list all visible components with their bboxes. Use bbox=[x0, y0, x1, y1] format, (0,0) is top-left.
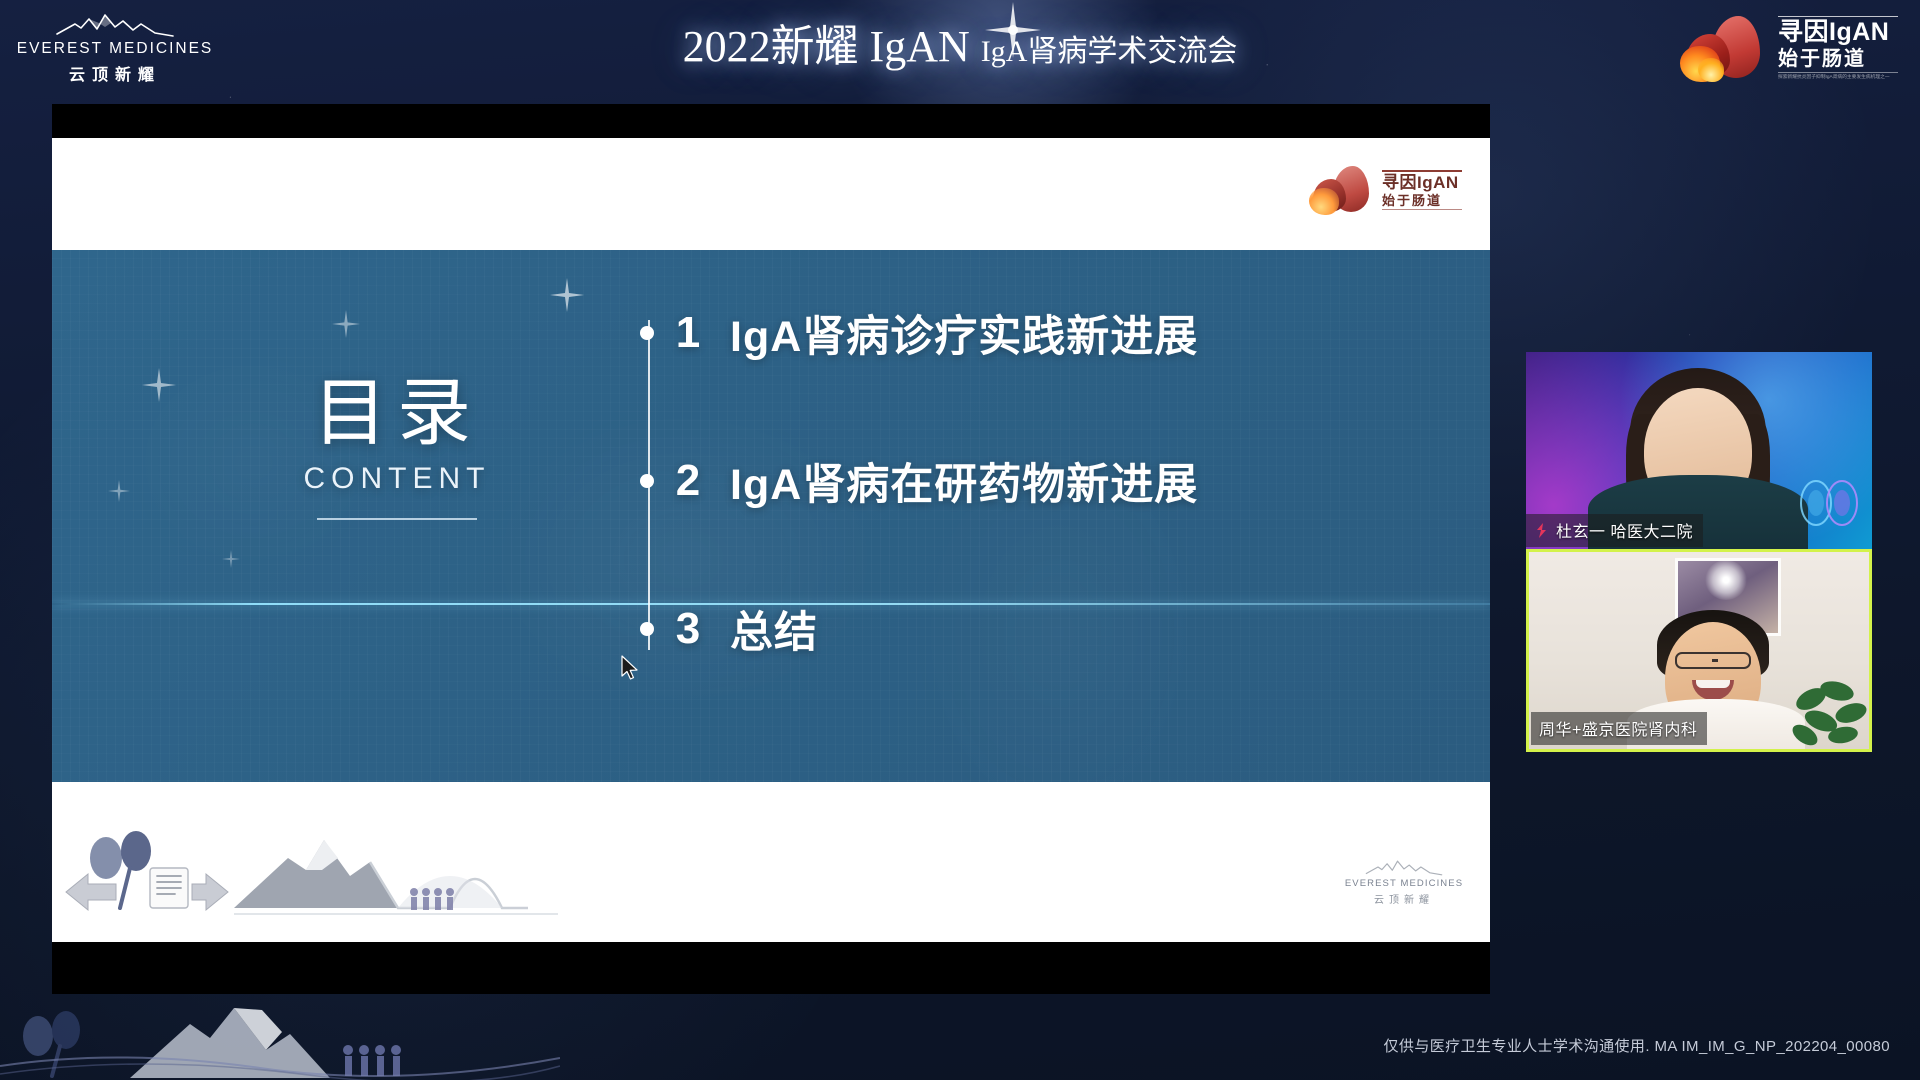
kidney-flame-icon bbox=[1307, 163, 1377, 217]
content-title-english: CONTENT bbox=[267, 462, 527, 496]
participant-1-name-badge: 杜玄一 哈医大二院 bbox=[1526, 514, 1703, 547]
slide-igan-line2: 始于肠道 bbox=[1382, 194, 1462, 207]
igan-logo-line1: 寻因IgAN bbox=[1778, 20, 1898, 45]
forward-arrow-icon bbox=[192, 874, 228, 910]
sparkle-icon bbox=[332, 310, 360, 338]
event-title-main: 2022新耀 IgAN bbox=[683, 22, 970, 71]
content-title-underline bbox=[317, 518, 477, 520]
light-glare bbox=[1705, 560, 1747, 600]
agenda-list: 1 IgA肾病诊疗实践新进展 2 IgA肾病在研药物新进展 3 总结 bbox=[646, 302, 1386, 660]
letterbox-bottom bbox=[52, 942, 1490, 994]
back-arrow-icon bbox=[66, 874, 116, 910]
slide-header: 寻因IgAN 始于肠道 bbox=[52, 138, 1490, 250]
agenda-bullet-icon bbox=[640, 474, 654, 488]
slide-content-area: 目录 CONTENT 1 IgA肾病诊疗实践新进展 2 IgA肾病在研药物新进展 bbox=[52, 250, 1490, 782]
kidney-flame-icon bbox=[1676, 12, 1772, 84]
igan-logo-line3: 探索新耀抗炎因子抑制IgA肾病的主要发生病机理之一 bbox=[1778, 75, 1892, 80]
screen-share-region[interactable]: 寻因IgAN 始于肠道 目录 bbox=[52, 104, 1490, 994]
agenda-number: 1 bbox=[646, 308, 730, 358]
avatar-teeth bbox=[1696, 680, 1730, 688]
content-title-block: 目录 CONTENT bbox=[267, 372, 527, 520]
houseplant-icon bbox=[1781, 669, 1867, 749]
slide-igan-line1: 寻因IgAN bbox=[1382, 174, 1462, 191]
agenda-number: 3 bbox=[646, 604, 730, 654]
slide-logo-english: EVEREST MEDICINES bbox=[1345, 878, 1463, 889]
agenda-number: 2 bbox=[646, 456, 730, 506]
agenda-label: IgA肾病在研药物新进展 bbox=[730, 450, 1198, 512]
agenda-label: IgA肾病诊疗实践新进展 bbox=[730, 302, 1198, 364]
slide-footer-artwork bbox=[58, 796, 578, 936]
speaking-indicator-icon bbox=[1534, 523, 1549, 538]
sparkle-icon bbox=[222, 550, 240, 568]
event-title-sub: IgA肾病学术交流会 bbox=[981, 35, 1238, 68]
content-title-chinese: 目录 bbox=[267, 372, 527, 454]
agenda-bullet-icon bbox=[640, 622, 654, 636]
letterbox-top bbox=[52, 104, 1490, 138]
participant-tile-1[interactable]: 杜玄一 哈医大二院 bbox=[1526, 352, 1872, 549]
agenda-label: 总结 bbox=[730, 598, 818, 660]
participant-2-name: 周华+盛京医院肾内科 bbox=[1539, 716, 1697, 740]
participant-video-tiles: 杜玄一 哈医大二院 周华+ bbox=[1526, 352, 1872, 752]
document-icon bbox=[150, 868, 188, 908]
page-footer-artwork bbox=[0, 988, 560, 1080]
presentation-slide[interactable]: 寻因IgAN 始于肠道 目录 bbox=[52, 138, 1490, 942]
page-header: EVEREST MEDICINES 云顶新耀 2022新耀 IgAN IgA肾病… bbox=[0, 0, 1920, 95]
igan-campaign-logo: 寻因IgAN 始于肠道 探索新耀抗炎因子抑制IgA肾病的主要发生病机理之一 bbox=[1676, 12, 1898, 84]
event-title: 2022新耀 IgAN IgA肾病学术交流会 bbox=[0, 22, 1920, 77]
participant-tile-2[interactable]: 周华+盛京医院肾内科 bbox=[1526, 549, 1872, 752]
sparkle-icon bbox=[142, 368, 176, 402]
igan-logo-line2: 始于肠道 bbox=[1778, 49, 1898, 69]
agenda-item-3[interactable]: 3 总结 bbox=[646, 598, 1386, 660]
mountain-peaks-icon bbox=[1365, 858, 1443, 876]
slide-footer: EVEREST MEDICINES 云顶新耀 bbox=[52, 782, 1490, 942]
slide-everest-logo: EVEREST MEDICINES 云顶新耀 bbox=[1344, 858, 1464, 906]
sparkle-icon bbox=[108, 480, 130, 502]
participant-2-name-badge: 周华+盛京医院肾内科 bbox=[1531, 712, 1707, 745]
slide-logo-chinese: 云顶新耀 bbox=[1374, 891, 1434, 906]
participant-1-name: 杜玄一 哈医大二院 bbox=[1556, 518, 1693, 542]
agenda-item-2[interactable]: 2 IgA肾病在研药物新进展 bbox=[646, 450, 1386, 512]
people-icon bbox=[343, 1045, 401, 1076]
kidney-graphic-icon bbox=[1792, 475, 1864, 533]
disclaimer-text: 仅供与医疗卫生专业人士学术沟通使用. MA IM_IM_G_NP_202204_… bbox=[1384, 1035, 1890, 1056]
sparkle-icon bbox=[550, 278, 584, 312]
avatar-glasses bbox=[1675, 652, 1751, 669]
slide-igan-logo: 寻因IgAN 始于肠道 bbox=[1307, 162, 1462, 218]
mountain-range-icon bbox=[234, 840, 528, 908]
agenda-item-1[interactable]: 1 IgA肾病诊疗实践新进展 bbox=[646, 302, 1386, 364]
agenda-bullet-icon bbox=[640, 326, 654, 340]
